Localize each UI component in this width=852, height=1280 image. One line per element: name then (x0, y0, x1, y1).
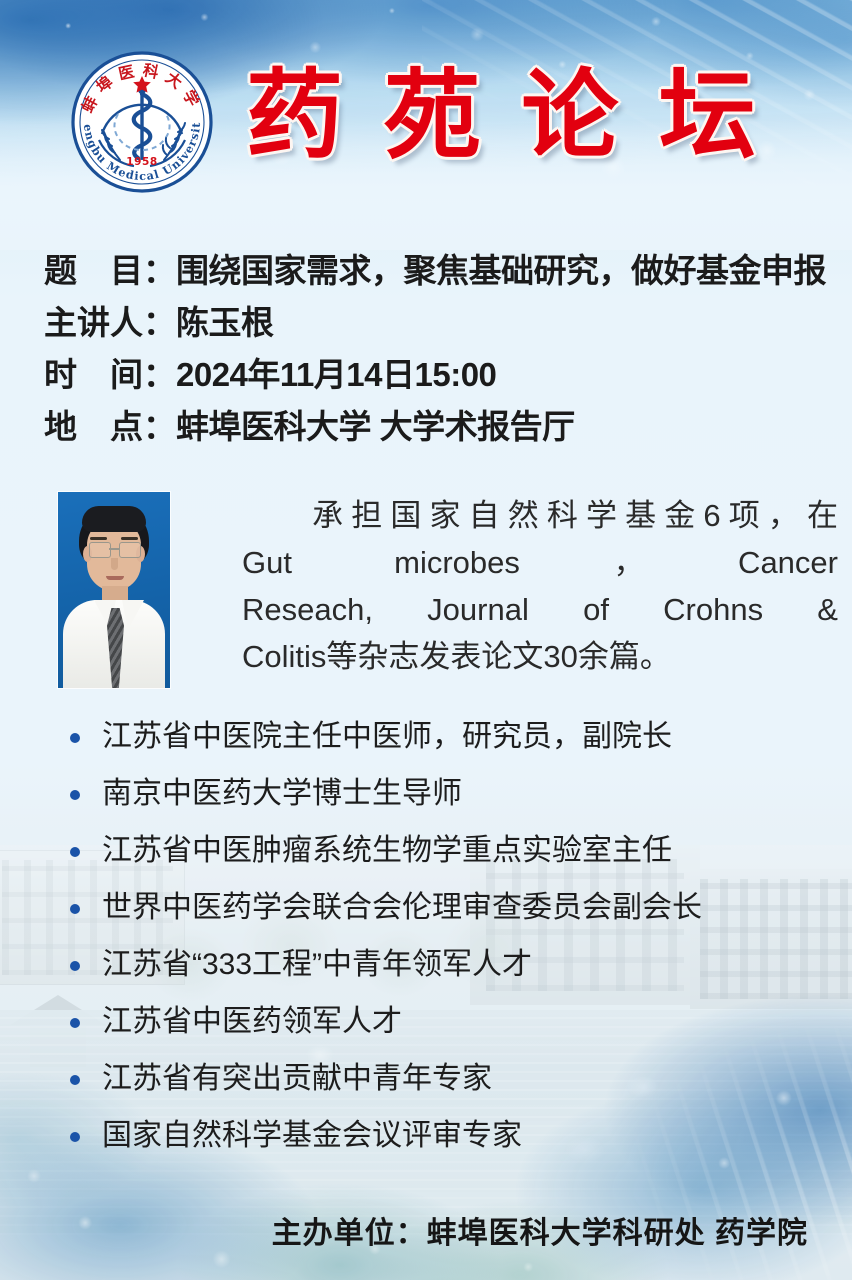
bio-line-2-text: Gut microbes，Cancer (242, 545, 838, 580)
credential-text: 江苏省中医药领军人才 (102, 1005, 402, 1038)
info-value-topic: 围绕国家需求，聚焦基础研究，做好基金申报 (176, 254, 826, 287)
list-item: 江苏省中医药领军人才 (66, 1007, 826, 1037)
info-row-location: 地 点： 蚌埠医科大学 大学术报告厅 (44, 410, 834, 443)
list-item: 江苏省中医肿瘤系统生物学重点实验室主任 (66, 836, 826, 866)
info-value-speaker: 陈玉根 (176, 306, 274, 339)
forum-title: 药 苑 论 坛 (246, 52, 756, 178)
portrait-mouth (106, 576, 124, 580)
university-logo-icon: 1958 蚌埠医科大学 Bengbu Medical University (68, 48, 216, 196)
credential-text: 江苏省中医院主任中医师，研究员，副院长 (102, 720, 672, 753)
list-item: 江苏省“333工程”中青年领军人才 (66, 950, 826, 980)
credentials-list: 江苏省中医院主任中医师，研究员，副院长 南京中医药大学博士生导师 江苏省中医肿瘤… (66, 722, 826, 1178)
poster-header: 1958 蚌埠医科大学 Bengbu Medical University 药 … (0, 0, 852, 215)
portrait-nose (111, 558, 118, 570)
info-label-location: 地 点： (44, 410, 176, 443)
portrait-glasses-lens-left (89, 542, 111, 558)
info-row-speaker: 主讲人： 陈玉根 (44, 306, 834, 339)
credential-text: 江苏省中医肿瘤系统生物学重点实验室主任 (102, 834, 672, 867)
list-item: 南京中医药大学博士生导师 (66, 779, 826, 809)
info-value-location: 蚌埠医科大学 大学术报告厅 (176, 410, 575, 443)
list-item: 江苏省有突出贡献中青年专家 (66, 1064, 826, 1094)
info-value-time: 2024年11月14日15:00 (176, 358, 496, 391)
info-row-time: 时 间： 2024年11月14日15:00 (44, 358, 834, 391)
credential-text: 江苏省“333工程”中青年领军人才 (102, 948, 532, 981)
svg-text:1958: 1958 (126, 156, 158, 168)
credential-text: 南京中医药大学博士生导师 (102, 777, 462, 810)
bio-line-1: 承担国家自然科学基金6项，在 (242, 492, 838, 539)
list-item: 国家自然科学基金会议评审专家 (66, 1121, 826, 1151)
portrait-collar-right (122, 600, 144, 630)
poster-footer: 主办单位：蚌埠医科大学科研处 药学院 (0, 1208, 852, 1252)
info-label-topic: 题 目： (44, 254, 176, 287)
bio-line-4: Colitis等杂志发表论文30余篇。 (242, 633, 838, 680)
portrait-hair-front (82, 506, 146, 532)
bio-line-4-text: Colitis等杂志发表论文30余篇。 (242, 639, 671, 674)
credential-text: 江苏省有突出贡献中青年专家 (102, 1062, 492, 1095)
portrait-eyebrow-right (121, 537, 138, 540)
credential-text: 世界中医药学会联合会伦理审查委员会副会长 (102, 891, 702, 924)
organizer-text: 主办单位：蚌埠医科大学科研处 药学院 (272, 1217, 808, 1250)
bio-line-2: Gut microbes，Cancer (242, 539, 838, 586)
list-item: 世界中医药学会联合会伦理审查委员会副会长 (66, 893, 826, 923)
bio-line-3: Reseach, Journal of Crohns & (242, 586, 838, 633)
portrait-glasses-bridge (109, 548, 119, 550)
portrait-glasses-lens-right (119, 542, 141, 558)
speaker-bio-block: 承担国家自然科学基金6项，在 Gut microbes，Cancer Resea… (58, 492, 838, 680)
speaker-bio-text: 承担国家自然科学基金6项，在 Gut microbes，Cancer Resea… (242, 492, 838, 680)
forum-title-char-4: 坛 (659, 67, 756, 164)
portrait-eyebrow-left (90, 537, 107, 540)
event-info-block: 题 目： 围绕国家需求，聚焦基础研究，做好基金申报 主讲人： 陈玉根 时 间： … (44, 254, 834, 462)
seminar-poster: 1958 蚌埠医科大学 Bengbu Medical University 药 … (0, 0, 852, 1280)
info-label-speaker: 主讲人： (44, 306, 176, 339)
bio-line-1-text: 承担国家自然科学基金6项，在 (304, 498, 838, 533)
forum-title-char-2: 苑 (384, 67, 481, 164)
list-item: 江苏省中医院主任中医师，研究员，副院长 (66, 722, 826, 752)
forum-title-char-1: 药 (246, 67, 343, 164)
speaker-portrait (58, 492, 170, 688)
info-label-time: 时 间： (44, 358, 176, 391)
forum-title-char-3: 论 (521, 67, 618, 164)
credential-text: 国家自然科学基金会议评审专家 (102, 1119, 522, 1152)
bio-line-3-text: Reseach, Journal of Crohns & (242, 592, 838, 627)
info-row-topic: 题 目： 围绕国家需求，聚焦基础研究，做好基金申报 (44, 254, 834, 287)
